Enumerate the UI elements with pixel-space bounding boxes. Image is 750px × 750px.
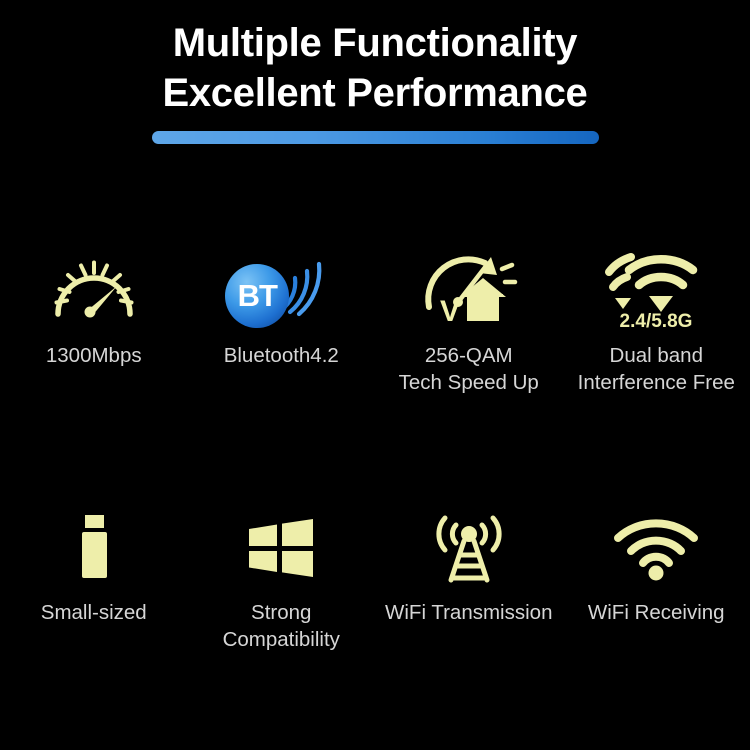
accent-bar [152, 131, 599, 144]
feature-label-line1: WiFi Transmission [385, 601, 552, 624]
dual-band-icon-box: 2.4/5.8G [563, 238, 750, 334]
feature-item-bluetooth: BT Bluetooth4.2 [188, 238, 376, 396]
dual-band-wifi-icon: 2.4/5.8G [600, 243, 712, 329]
feature-label-line1: Strong [251, 601, 311, 624]
feature-item-wifi-transmission: WiFi Transmission [375, 505, 563, 653]
feature-label: 1300Mbps [46, 342, 142, 369]
feature-item-256qam: V 256-QAM Tech Speed Up [375, 238, 563, 396]
wifi-signal-icon [612, 515, 700, 581]
feature-label-line2: Compatibility [223, 626, 340, 653]
qam-speed-house-icon: V [419, 245, 519, 327]
feature-label: Dual band Interference Free [578, 342, 735, 396]
windows-logo-icon [245, 515, 317, 581]
feature-label: Bluetooth4.2 [224, 342, 339, 369]
usb-icon-box [0, 505, 188, 591]
bluetooth-icon-box: BT [188, 238, 376, 334]
feature-label-line2: Tech Speed Up [399, 369, 539, 396]
feature-label: WiFi Receiving [588, 599, 725, 626]
qam-icon-text: V [440, 295, 460, 327]
feature-item-wifi-receiving: WiFi Receiving [563, 505, 750, 653]
feature-row: Small-sized Strong Compatibility [0, 505, 750, 653]
feature-label-line2: Interference Free [578, 369, 735, 396]
usb-stick-icon [71, 509, 117, 587]
feature-label-line1: 1300Mbps [46, 344, 142, 367]
feature-label: WiFi Transmission [385, 599, 552, 626]
feature-label-line1: WiFi Receiving [588, 601, 725, 624]
accent-bar-container [0, 131, 750, 144]
feature-label-line1: 256-QAM [425, 344, 513, 367]
wifi-icon-box [563, 505, 750, 591]
bluetooth-bt-icon: BT [221, 238, 341, 334]
bluetooth-circle: BT [225, 264, 289, 328]
feature-item-compatibility: Strong Compatibility [188, 505, 376, 653]
feature-grid-row-1: 1300Mbps BT [0, 238, 750, 396]
radio-tower-icon [426, 510, 512, 586]
feature-item-small-sized: Small-sized [0, 505, 188, 653]
heading-line-2: Excellent Performance [0, 68, 750, 118]
feature-row: 1300Mbps BT [0, 238, 750, 396]
page-header: Multiple Functionality Excellent Perform… [0, 0, 750, 144]
feature-label: Strong Compatibility [223, 599, 340, 653]
feature-label-line1: Bluetooth4.2 [224, 344, 339, 367]
tower-icon-box [375, 505, 563, 591]
speedometer-icon [48, 246, 140, 326]
feature-item-1300mbps: 1300Mbps [0, 238, 188, 396]
heading-line-1: Multiple Functionality [0, 18, 750, 68]
feature-grid-row-2: Small-sized Strong Compatibility [0, 505, 750, 653]
speedometer-icon-box [0, 238, 188, 334]
feature-label: Small-sized [41, 599, 147, 626]
feature-label-line1: Dual band [610, 344, 703, 367]
qam-icon-box: V [375, 238, 563, 334]
feature-label: 256-QAM Tech Speed Up [399, 342, 539, 396]
feature-item-dual-band: 2.4/5.8G Dual band Interference Free [563, 238, 750, 396]
windows-icon-box [188, 505, 376, 591]
dual-band-icon-text: 2.4/5.8G [620, 311, 693, 329]
feature-label-line1: Small-sized [41, 601, 147, 624]
bluetooth-icon-text: BT [238, 280, 277, 311]
